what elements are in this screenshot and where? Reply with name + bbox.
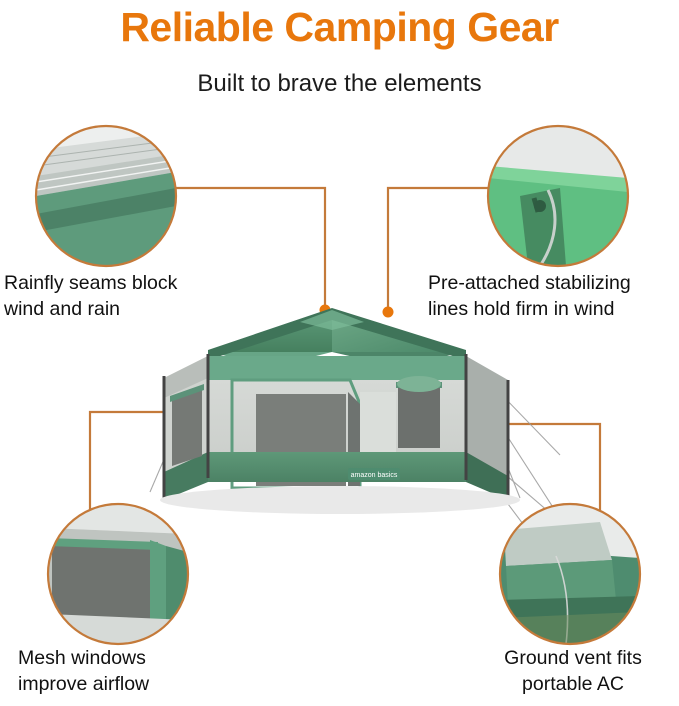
caption-stabilizing-lines: Pre-attached stabilizing lines hold firm…: [428, 270, 678, 322]
tent-skirt-front: [208, 452, 466, 482]
dot-top-right: [383, 307, 394, 318]
caption-stabilizing-lines-line2: lines hold firm in wind: [428, 296, 678, 322]
tent-upper-band: [208, 356, 466, 380]
tent-window-right: [398, 384, 440, 448]
product-scene: amazon basics: [0, 0, 679, 706]
ground-vent-closeup: [500, 504, 640, 644]
tent-window-right-arch: [397, 376, 441, 392]
caption-ground-vent: Ground vent fits portable AC: [468, 645, 678, 697]
tent-shadow: [160, 486, 520, 514]
caption-ground-vent-line1: Ground vent fits: [468, 645, 678, 671]
mesh-window-closeup: [48, 504, 188, 644]
camping-gear-infographic: Reliable Camping Gear Built to brave the…: [0, 0, 679, 706]
caption-stabilizing-lines-line1: Pre-attached stabilizing: [428, 270, 678, 296]
caption-rainfly-seams: Rainfly seams block wind and rain: [4, 270, 234, 322]
caption-rainfly-seams-line1: Rainfly seams block: [4, 270, 234, 296]
caption-mesh-windows: Mesh windows improve airflow: [18, 645, 248, 697]
stabilizing-line-closeup: [488, 126, 628, 266]
tent-panel-front-right: [360, 392, 396, 452]
caption-mesh-windows-line2: improve airflow: [18, 671, 248, 697]
caption-mesh-windows-line1: Mesh windows: [18, 645, 248, 671]
brand-label: amazon basics: [351, 472, 398, 479]
rainfly-seam-closeup: [36, 126, 176, 266]
caption-ground-vent-line2: portable AC: [468, 671, 678, 697]
caption-rainfly-seams-line2: wind and rain: [4, 296, 234, 322]
brand-badge: amazon basics: [348, 468, 400, 480]
